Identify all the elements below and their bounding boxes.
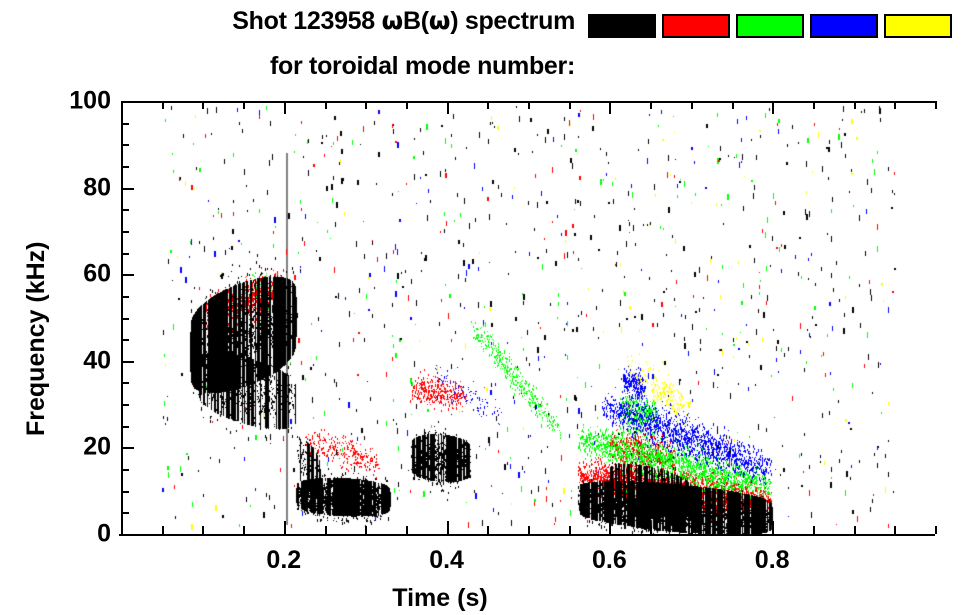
legend-swatch-5 [884,14,952,38]
x-tick-label: 0.8 [755,546,790,575]
y-tick-major [121,447,134,449]
x-tick-minor [202,526,204,534]
y-tick-major [121,188,134,190]
legend-item-5[interactable] [884,14,952,52]
x-tick-major [609,521,611,534]
y-tick-minor [121,382,129,384]
x-tick-top [487,101,489,109]
y-tick-minor [121,166,129,168]
omega-symbol-1: ω [382,6,403,35]
y-tick-minor [121,296,129,298]
y-tick-minor [121,404,129,406]
x-tick-minor [935,526,937,534]
y-tick-major [121,274,134,276]
x-tick-minor [650,526,652,534]
x-tick-top [854,101,856,109]
x-tick-minor [325,526,327,534]
x-axis-line [119,534,935,536]
legend-item-2[interactable] [662,14,730,52]
y-tick-major [121,101,134,103]
plot-frame [121,101,935,534]
y-tick-minor [121,144,129,146]
x-axis-label: Time (s) [392,584,487,613]
x-tick-top [365,101,367,109]
page-title: Shot 123958 ωB(ω) spectrum [0,6,575,36]
y-tick-minor [121,426,129,428]
y-tick-label: 0 [25,520,111,549]
x-tick-minor [487,526,489,534]
x-tick-top [447,101,449,114]
x-tick-top [528,101,530,109]
legend [588,14,958,90]
y-tick-minor [121,339,129,341]
y-tick-minor [121,491,129,493]
x-tick-minor [162,526,164,534]
x-tick-label: 0.2 [266,546,301,575]
x-tick-minor [691,526,693,534]
x-tick-minor [243,526,245,534]
x-tick-minor [406,526,408,534]
x-tick-top [772,101,774,114]
x-tick-top [650,101,652,109]
x-tick-top [813,101,815,109]
y-axis-label: Frequency (kHz) [22,241,51,435]
y-tick-label: 80 [25,173,111,202]
x-tick-minor [365,526,367,534]
title-text-prefix: Shot 123958 [232,7,381,35]
x-tick-top [609,101,611,114]
x-tick-top [162,101,164,109]
legend-swatch-2 [662,14,730,38]
x-tick-minor [894,526,896,534]
title-text-mid: B( [403,7,429,35]
legend-swatch-3 [736,14,804,38]
x-tick-top [406,101,408,109]
y-tick-minor [121,123,129,125]
x-tick-top [243,101,245,109]
x-tick-top [894,101,896,109]
x-tick-top [691,101,693,109]
x-tick-minor [813,526,815,534]
y-tick-major [121,534,134,536]
x-tick-minor [121,526,123,534]
x-tick-label: 0.6 [592,546,627,575]
legend-item-1[interactable] [588,14,656,52]
plot-area [121,101,935,534]
legend-item-4[interactable] [810,14,878,52]
title-text-suffix: ) spectrum [450,7,575,35]
x-tick-top [935,101,937,109]
legend-item-3[interactable] [736,14,804,52]
x-tick-minor [569,526,571,534]
x-tick-top [569,101,571,109]
x-tick-top [202,101,204,109]
x-tick-top [732,101,734,109]
title-subtitle: for toroidal mode number: [0,52,575,81]
y-tick-major [121,361,134,363]
x-tick-major [284,521,286,534]
y-tick-label: 100 [25,87,111,116]
y-tick-label: 20 [25,433,111,462]
y-tick-minor [121,318,129,320]
y-tick-minor [121,469,129,471]
legend-swatch-4 [810,14,878,38]
y-tick-minor [121,253,129,255]
y-tick-minor [121,231,129,233]
x-tick-major [772,521,774,534]
x-tick-minor [732,526,734,534]
x-tick-top [284,101,286,114]
x-tick-top [325,101,327,109]
omega-symbol-2: ω [429,6,450,35]
x-tick-label: 0.4 [429,546,464,575]
x-tick-minor [528,526,530,534]
x-tick-major [447,521,449,534]
y-tick-minor [121,512,129,514]
y-tick-minor [121,209,129,211]
spectrogram-figure: Shot 123958 ωB(ω) spectrum for toroidal … [0,0,963,615]
x-tick-minor [854,526,856,534]
legend-swatch-1 [588,14,656,38]
